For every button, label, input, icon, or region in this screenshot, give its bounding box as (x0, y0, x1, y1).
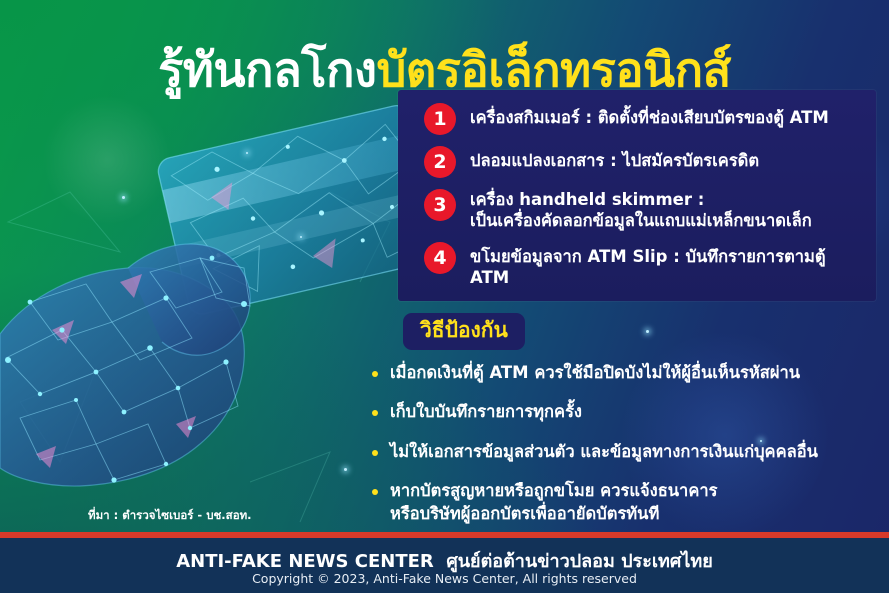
list-item-text: เครื่องสกิมเมอร์ : ติดตั้งที่ช่องเสียบบั… (470, 103, 829, 128)
list-item-text: ขโมยข้อมูลจาก ATM Slip : บันทึกรายการตาม… (470, 242, 866, 288)
hand-holding-card-illustration (0, 72, 420, 527)
prevention-heading-badge: วิธีป้องกัน (403, 313, 525, 350)
scam-methods-panel: 1 เครื่องสกิมเมอร์ : ติดตั้งที่ช่องเสียบ… (398, 90, 876, 301)
list-item-text: เครื่อง handheld skimmer : เป็นเครื่องคั… (470, 189, 812, 231)
bullet-text: หากบัตรสูญหายหรือถูกขโมย ควรแจ้งธนาคาร ห… (390, 480, 718, 525)
page-title-white-part: รู้ทันกลโกง (158, 43, 376, 98)
sparkle (300, 236, 302, 238)
list-item: หากบัตรสูญหายหรือถูกขโมย ควรแจ้งธนาคาร ห… (372, 480, 884, 525)
list-item-text: ปลอมแปลงเอกสาร : ไปสมัครบัตรเครดิต (470, 146, 759, 171)
list-number-badge: 3 (424, 189, 456, 221)
prevention-bullet-list: เมื่อกดเงินที่ตู้ ATM ควรใช้มือปิดบังไม่… (372, 362, 884, 525)
footer-organization-th: ศูนย์ต่อต้านข่าวปลอม ประเทศไทย (446, 551, 712, 572)
list-item: 4 ขโมยข้อมูลจาก ATM Slip : บันทึกรายการต… (408, 242, 866, 288)
list-item: ไม่ให้เอกสารข้อมูลส่วนตัว และข้อมูลทางกา… (372, 441, 884, 463)
list-number-badge: 2 (424, 146, 456, 178)
bullet-text: เมื่อกดเงินที่ตู้ ATM ควรใช้มือปิดบังไม่… (390, 362, 800, 384)
sparkle (246, 152, 248, 154)
list-item: 2 ปลอมแปลงเอกสาร : ไปสมัครบัตรเครดิต (408, 146, 866, 178)
list-item: 3 เครื่อง handheld skimmer : เป็นเครื่อง… (408, 189, 866, 231)
bullet-dot-icon (372, 371, 378, 377)
footer-organization-en: ANTI-FAKE NEWS CENTER (176, 551, 434, 572)
list-number-badge: 4 (424, 242, 456, 274)
source-credit: ที่มา : ตำรวจไซเบอร์ - บช.สอท. (88, 509, 252, 523)
sparkle (122, 196, 125, 199)
list-number-badge: 1 (424, 103, 456, 135)
sparkle (344, 468, 347, 471)
glow-decoration (42, 95, 172, 225)
sparkle (646, 330, 649, 333)
bullet-dot-icon (372, 450, 378, 456)
bullet-text: ไม่ให้เอกสารข้อมูลส่วนตัว และข้อมูลทางกา… (390, 441, 818, 463)
list-item: 1 เครื่องสกิมเมอร์ : ติดตั้งที่ช่องเสียบ… (408, 103, 866, 135)
bullet-text: เก็บใบบันทึกรายการทุกครั้ง (390, 401, 582, 423)
infographic-poster: รู้ทันกลโกงบัตรอิเล็กทรอนิกส์ 1 เครื่องส… (0, 0, 889, 593)
bullet-dot-icon (372, 410, 378, 416)
footer-bar: ANTI-FAKE NEWS CENTER ศูนย์ต่อต้านข่าวปล… (0, 538, 889, 593)
list-item: เมื่อกดเงินที่ตู้ ATM ควรใช้มือปิดบังไม่… (372, 362, 884, 384)
list-item: เก็บใบบันทึกรายการทุกครั้ง (372, 401, 884, 423)
bullet-dot-icon (372, 489, 378, 495)
footer-copyright: Copyright © 2023, Anti-Fake News Center,… (0, 571, 889, 586)
